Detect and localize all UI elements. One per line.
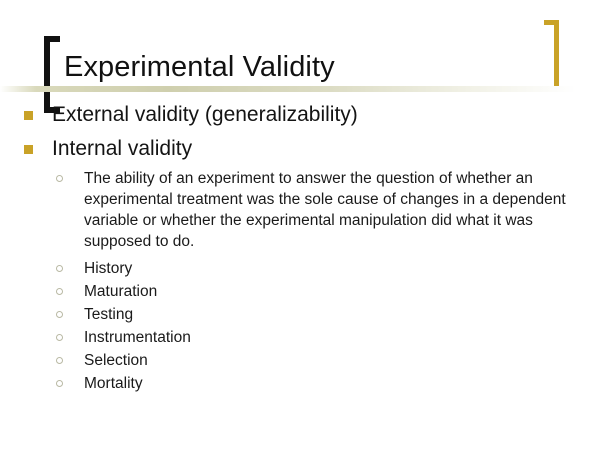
square-bullet-icon — [24, 111, 33, 120]
title-divider-rule — [0, 86, 600, 92]
bullet-label: External validity (generalizability) — [52, 103, 358, 126]
bullet-level2-testing: Testing — [0, 304, 600, 325]
slide-body: External validity (generalizability) Int… — [0, 100, 600, 396]
bullet-level2-definition: The ability of an experiment to answer t… — [0, 168, 600, 252]
circle-bullet-icon — [56, 175, 63, 182]
slide-title: Experimental Validity — [64, 50, 335, 84]
circle-bullet-icon — [56, 357, 63, 364]
bullet-label: The ability of an experiment to answer t… — [84, 170, 566, 250]
bullet-label: Selection — [84, 352, 148, 369]
bullet-label: Testing — [84, 306, 133, 323]
bullet-level2-selection: Selection — [0, 350, 600, 371]
bullet-label: History — [84, 260, 132, 277]
bullet-label: Instrumentation — [84, 329, 191, 346]
bullet-label: Mortality — [84, 375, 143, 392]
bullet-level2-history: History — [0, 258, 600, 279]
bullet-level2-mortality: Mortality — [0, 373, 600, 394]
square-bullet-icon — [24, 145, 33, 154]
circle-bullet-icon — [56, 288, 63, 295]
bullet-level2-maturation: Maturation — [0, 281, 600, 302]
bullet-level1-external-validity: External validity (generalizability) — [0, 100, 600, 130]
circle-bullet-icon — [56, 380, 63, 387]
bullet-level2-instrumentation: Instrumentation — [0, 327, 600, 348]
presentation-slide: Experimental Validity External validity … — [0, 0, 600, 449]
bullet-label: Maturation — [84, 283, 157, 300]
circle-bullet-icon — [56, 265, 63, 272]
bullet-level1-internal-validity: Internal validity — [0, 134, 600, 164]
circle-bullet-icon — [56, 311, 63, 318]
right-bracket-ornament-icon — [544, 20, 559, 91]
circle-bullet-icon — [56, 334, 63, 341]
bullet-label: Internal validity — [52, 137, 192, 160]
